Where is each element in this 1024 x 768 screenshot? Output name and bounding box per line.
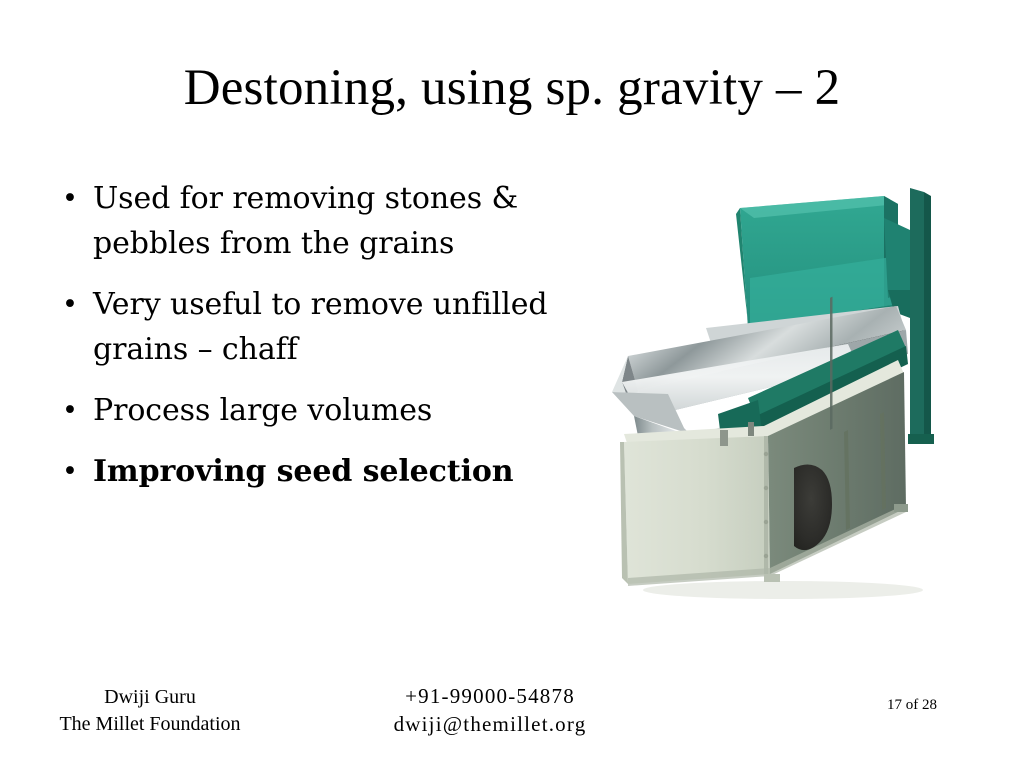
presenter-name: Dwiji Guru xyxy=(0,684,300,711)
email-address: dwiji@themillet.org xyxy=(320,710,660,738)
footer-organization: Dwiji Guru The Millet Foundation xyxy=(0,684,300,738)
page-number: 17 of 28 xyxy=(852,696,972,715)
bullet-point-icon: • xyxy=(56,449,93,494)
machine-shadow xyxy=(643,581,923,599)
list-item-label: Very useful to remove unfilled grains – … xyxy=(93,282,556,372)
phone-number: +91-99000-54878 xyxy=(320,682,660,710)
list-item: • Improving seed selection xyxy=(56,449,556,494)
gravity-destoner-machine-image xyxy=(598,178,958,603)
footer-contact: +91-99000-54878 dwiji@themillet.org xyxy=(320,682,660,738)
bullet-list: • Used for removing stones & pebbles fro… xyxy=(56,176,556,494)
bullet-point-icon: • xyxy=(56,388,93,433)
bullet-point-icon: • xyxy=(56,176,93,221)
page-title: Destoning, using sp. gravity – 2 xyxy=(0,58,1024,118)
bullet-point-icon: • xyxy=(56,282,93,327)
support-post xyxy=(908,188,934,444)
list-item-label: Improving seed selection xyxy=(93,449,556,494)
list-item: • Used for removing stones & pebbles fro… xyxy=(56,176,556,266)
organization-name: The Millet Foundation xyxy=(0,711,300,738)
list-item: • Process large volumes xyxy=(56,388,556,433)
list-item-label: Used for removing stones & pebbles from … xyxy=(93,176,556,266)
slide-canvas: Destoning, using sp. gravity – 2 • Used … xyxy=(0,0,1024,768)
list-item: • Very useful to remove unfilled grains … xyxy=(56,282,556,372)
list-item-label: Process large volumes xyxy=(93,388,556,433)
